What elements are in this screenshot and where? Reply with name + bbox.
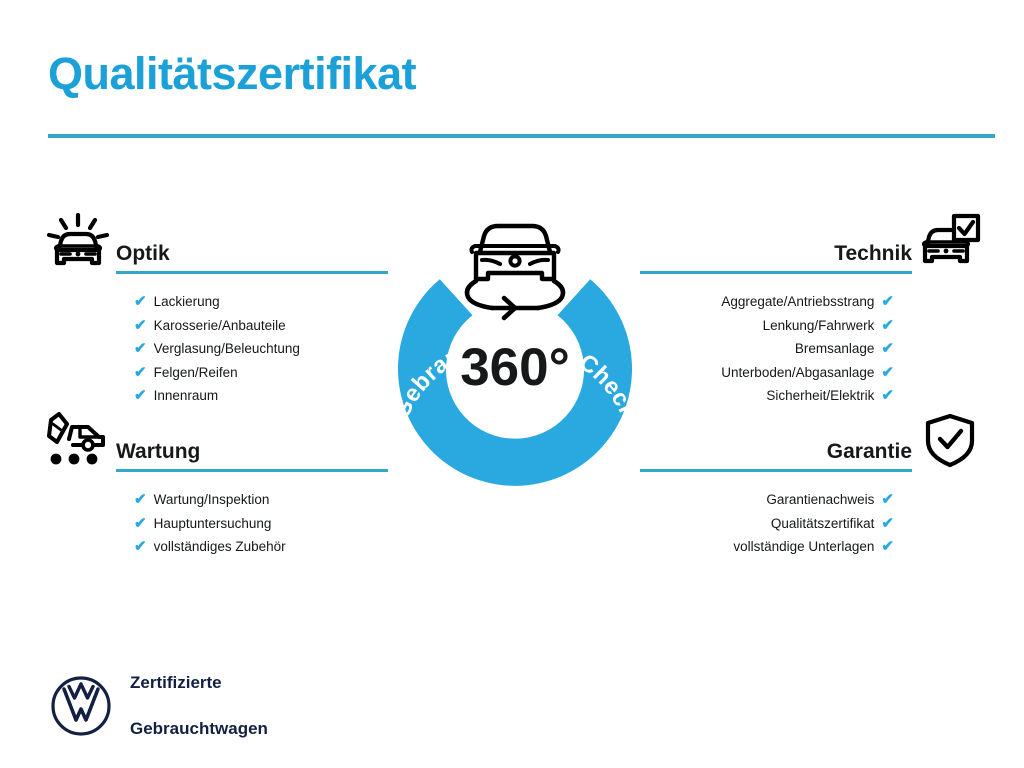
section-header-technik: Technik (640, 206, 988, 276)
badge-360-check: Gebrauchtwagen-Check 360° (372, 196, 658, 496)
section-title: Garantie (640, 439, 912, 469)
list-item: ✔ Lenkung/Fahrwerk (640, 314, 988, 338)
list-item-label: Felgen/Reifen (154, 361, 238, 385)
section-optik: Optik ✔ Lackierung ✔ Karosserie/Anbautei… (40, 206, 388, 408)
list-item-label: Wartung/Inspektion (154, 488, 270, 512)
list-item-label: Verglasung/Beleuchtung (154, 337, 300, 361)
section-header-garantie: Garantie (640, 404, 988, 474)
check-icon: ✔ (881, 341, 894, 356)
list-item: ✔ Verglasung/Beleuchtung (40, 337, 388, 361)
car-shine-icon (40, 208, 116, 276)
list-item-label: Lackierung (154, 290, 220, 314)
section-wartung: Wartung ✔ Wartung/Inspektion ✔ Hauptunte… (40, 404, 388, 559)
checklist-garantie: ✔ Garantienachweis ✔ Qualitätszertifikat… (640, 488, 988, 559)
section-technik: Technik ✔ Aggregate/Antriebsstrang ✔ Len… (640, 206, 988, 408)
checklist-technik: ✔ Aggregate/Antriebsstrang ✔ Lenkung/Fah… (640, 290, 988, 408)
section-title: Wartung (116, 439, 388, 469)
check-icon: ✔ (134, 294, 147, 309)
vw-logo-text: Zertifizierte Gebrauchtwagen (130, 648, 268, 763)
section-underline (116, 271, 388, 274)
list-item: ✔ Hauptuntersuchung (40, 512, 388, 536)
list-item: ✔ Aggregate/Antriebsstrang (640, 290, 988, 314)
list-item-label: Bremsanlage (795, 337, 875, 361)
check-icon: ✔ (881, 516, 894, 531)
section-header-wartung: Wartung (40, 404, 388, 474)
section-garantie: Garantie ✔ Garantienachweis ✔ Qualitätsz… (640, 404, 988, 559)
check-icon: ✔ (881, 388, 894, 403)
check-icon: ✔ (134, 492, 147, 507)
section-underline (640, 469, 912, 472)
check-icon: ✔ (881, 294, 894, 309)
list-item: ✔ Lackierung (40, 290, 388, 314)
checklist-optik: ✔ Lackierung ✔ Karosserie/Anbauteile ✔ V… (40, 290, 388, 408)
list-item: ✔ Felgen/Reifen (40, 361, 388, 385)
check-icon: ✔ (134, 341, 147, 356)
check-icon: ✔ (134, 365, 147, 380)
list-item-label: Aggregate/Antriebsstrang (721, 290, 874, 314)
checklist-wartung: ✔ Wartung/Inspektion ✔ Hauptuntersuchung… (40, 488, 388, 559)
shield-check-icon (912, 406, 988, 474)
list-item-label: Hauptuntersuchung (154, 512, 272, 536)
check-icon: ✔ (881, 539, 894, 554)
list-item: ✔ Wartung/Inspektion (40, 488, 388, 512)
vw-logo-line1: Zertifizierte (130, 671, 268, 694)
vw-logo-icon (50, 675, 112, 737)
section-underline (116, 469, 388, 472)
section-title: Technik (640, 241, 912, 271)
section-underline (640, 271, 912, 274)
car-checkbox-icon (912, 208, 988, 276)
check-icon: ✔ (881, 492, 894, 507)
list-item-label: vollständiges Zubehör (154, 535, 286, 559)
list-item: ✔ Karosserie/Anbauteile (40, 314, 388, 338)
pencil-car-icon (40, 406, 116, 474)
list-item-label: Unterboden/Abgasanlage (721, 361, 874, 385)
section-header-optik: Optik (40, 206, 388, 276)
check-icon: ✔ (881, 318, 894, 333)
check-icon: ✔ (134, 516, 147, 531)
list-item: ✔ Bremsanlage (640, 337, 988, 361)
list-item: ✔ Qualitätszertifikat (640, 512, 988, 536)
vw-logo-line2: Gebrauchtwagen (130, 717, 268, 740)
certificate-page: Qualitätszertifikat (0, 0, 1024, 768)
list-item: ✔ vollständige Unterlagen (640, 535, 988, 559)
car-rotate-icon (467, 226, 563, 318)
check-icon: ✔ (881, 365, 894, 380)
badge-center-label: 360° (460, 338, 570, 397)
list-item: ✔ Unterboden/Abgasanlage (640, 361, 988, 385)
title-divider (48, 134, 995, 138)
section-title: Optik (116, 241, 388, 271)
list-item-label: Karosserie/Anbauteile (154, 314, 286, 338)
list-item-label: Garantienachweis (766, 488, 874, 512)
list-item-label: Lenkung/Fahrwerk (763, 314, 875, 338)
check-icon: ✔ (134, 388, 147, 403)
check-icon: ✔ (134, 539, 147, 554)
page-title: Qualitätszertifikat (48, 48, 416, 100)
check-icon: ✔ (134, 318, 147, 333)
vw-footer-logo: Zertifizierte Gebrauchtwagen (50, 648, 268, 763)
list-item-label: vollständige Unterlagen (733, 535, 874, 559)
list-item-label: Qualitätszertifikat (771, 512, 875, 536)
list-item: ✔ Garantienachweis (640, 488, 988, 512)
list-item: ✔ vollständiges Zubehör (40, 535, 388, 559)
